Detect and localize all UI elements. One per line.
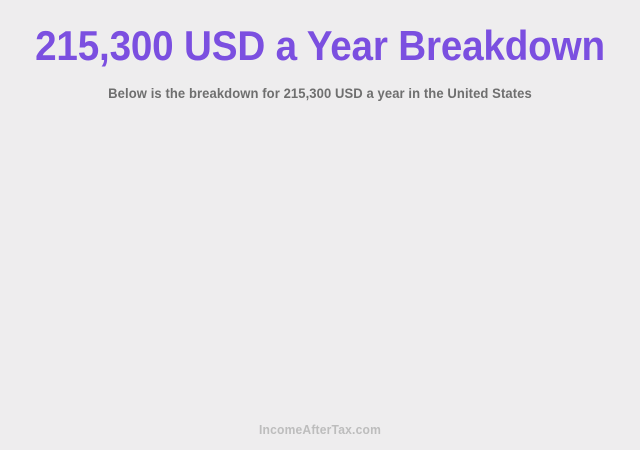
site-watermark: IncomeAfterTax.com [22,422,617,438]
page-root: 215,300 USD a Year Breakdown Below is th… [0,0,640,450]
breakdown-content-area [0,118,640,410]
page-subtitle: Below is the breakdown for 215,300 USD a… [22,84,617,102]
page-title: 215,300 USD a Year Breakdown [26,22,615,70]
